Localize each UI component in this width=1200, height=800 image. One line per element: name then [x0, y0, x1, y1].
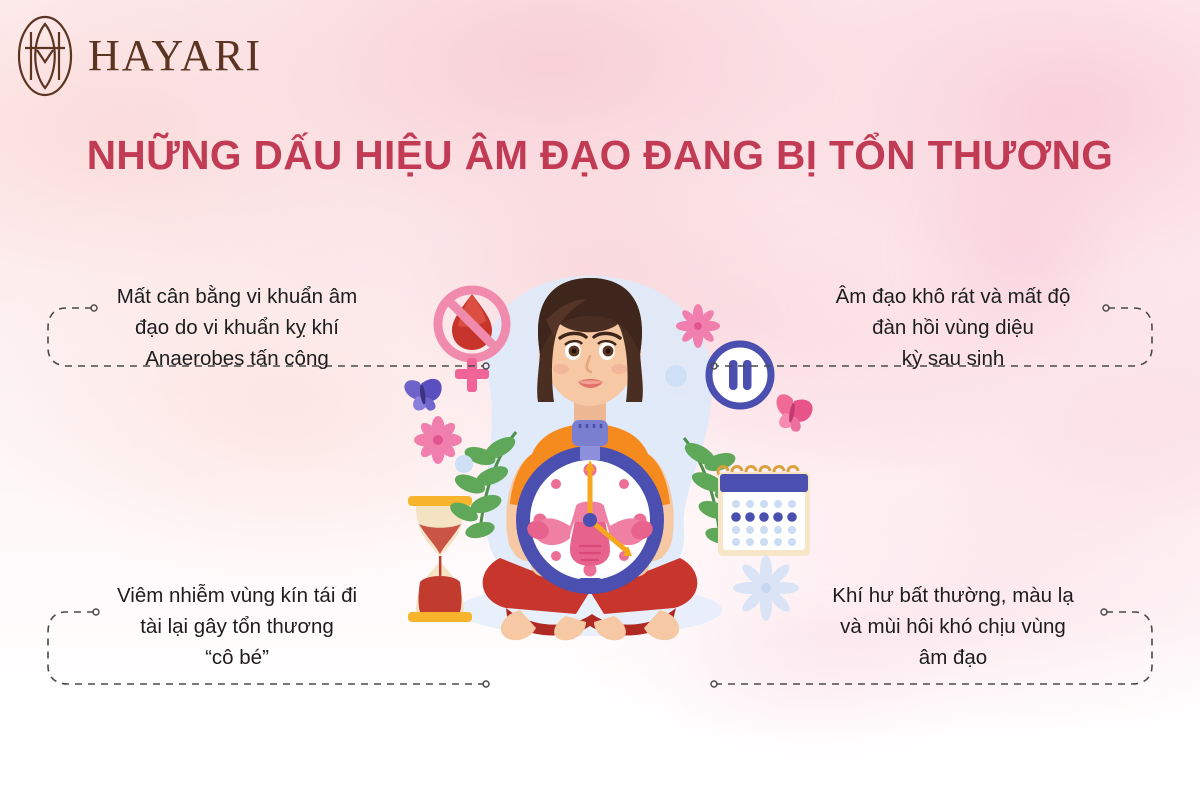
flower-pink-icon: [414, 416, 462, 464]
calendar-icon: [718, 467, 810, 557]
dot-decor: [455, 455, 473, 473]
callout-line: Mất cân bằng vi khuẩn âm: [62, 281, 412, 312]
callout-line: âm đạo: [778, 642, 1128, 673]
callout-line: “cô bé”: [62, 642, 412, 673]
callout-line: Khí hư bất thường, màu lạ: [778, 580, 1128, 611]
callout-top-right: Âm đạo khô rát và mất độ đàn hồi vùng di…: [778, 281, 1128, 374]
brand-name: HAYARI: [88, 34, 262, 78]
callout-line: Âm đạo khô rát và mất độ: [778, 281, 1128, 312]
callout-line: tài lại gây tổn thương: [62, 611, 412, 642]
page-title: NHỮNG DẤU HIỆU ÂM ĐẠO ĐANG BỊ TỔN THƯƠNG: [6, 132, 1194, 179]
callout-line: đạo do vi khuẩn kỵ khí: [62, 312, 412, 343]
callout-bottom-right: Khí hư bất thường, màu lạ và mùi hôi khó…: [778, 580, 1128, 673]
callout-top-left: Mất cân bằng vi khuẩn âm đạo do vi khuẩn…: [62, 281, 412, 374]
pause-button-icon: [709, 344, 771, 406]
brand-logo: HAYARI: [16, 14, 262, 98]
butterfly-pink-icon: [772, 393, 814, 434]
callout-line: Viêm nhiễm vùng kín tái đi: [62, 580, 412, 611]
hayari-oval-monogram-icon: [16, 14, 74, 98]
callout-bottom-left: Viêm nhiễm vùng kín tái đi tài lại gây t…: [62, 580, 412, 673]
callout-line: đàn hồi vùng diệu: [778, 312, 1128, 343]
dot-decor: [665, 365, 687, 387]
callout-line: và mùi hôi khó chịu vùng: [778, 611, 1128, 642]
butterfly-purple-icon: [404, 376, 445, 414]
central-illustration: [380, 258, 820, 688]
callout-line: Anaerobes tấn công: [62, 343, 412, 374]
infographic-canvas: HAYARI NHỮNG DẤU HIỆU ÂM ĐẠO ĐANG BỊ TỔN…: [0, 0, 1200, 800]
callout-line: kỳ sau sinh: [778, 343, 1128, 374]
